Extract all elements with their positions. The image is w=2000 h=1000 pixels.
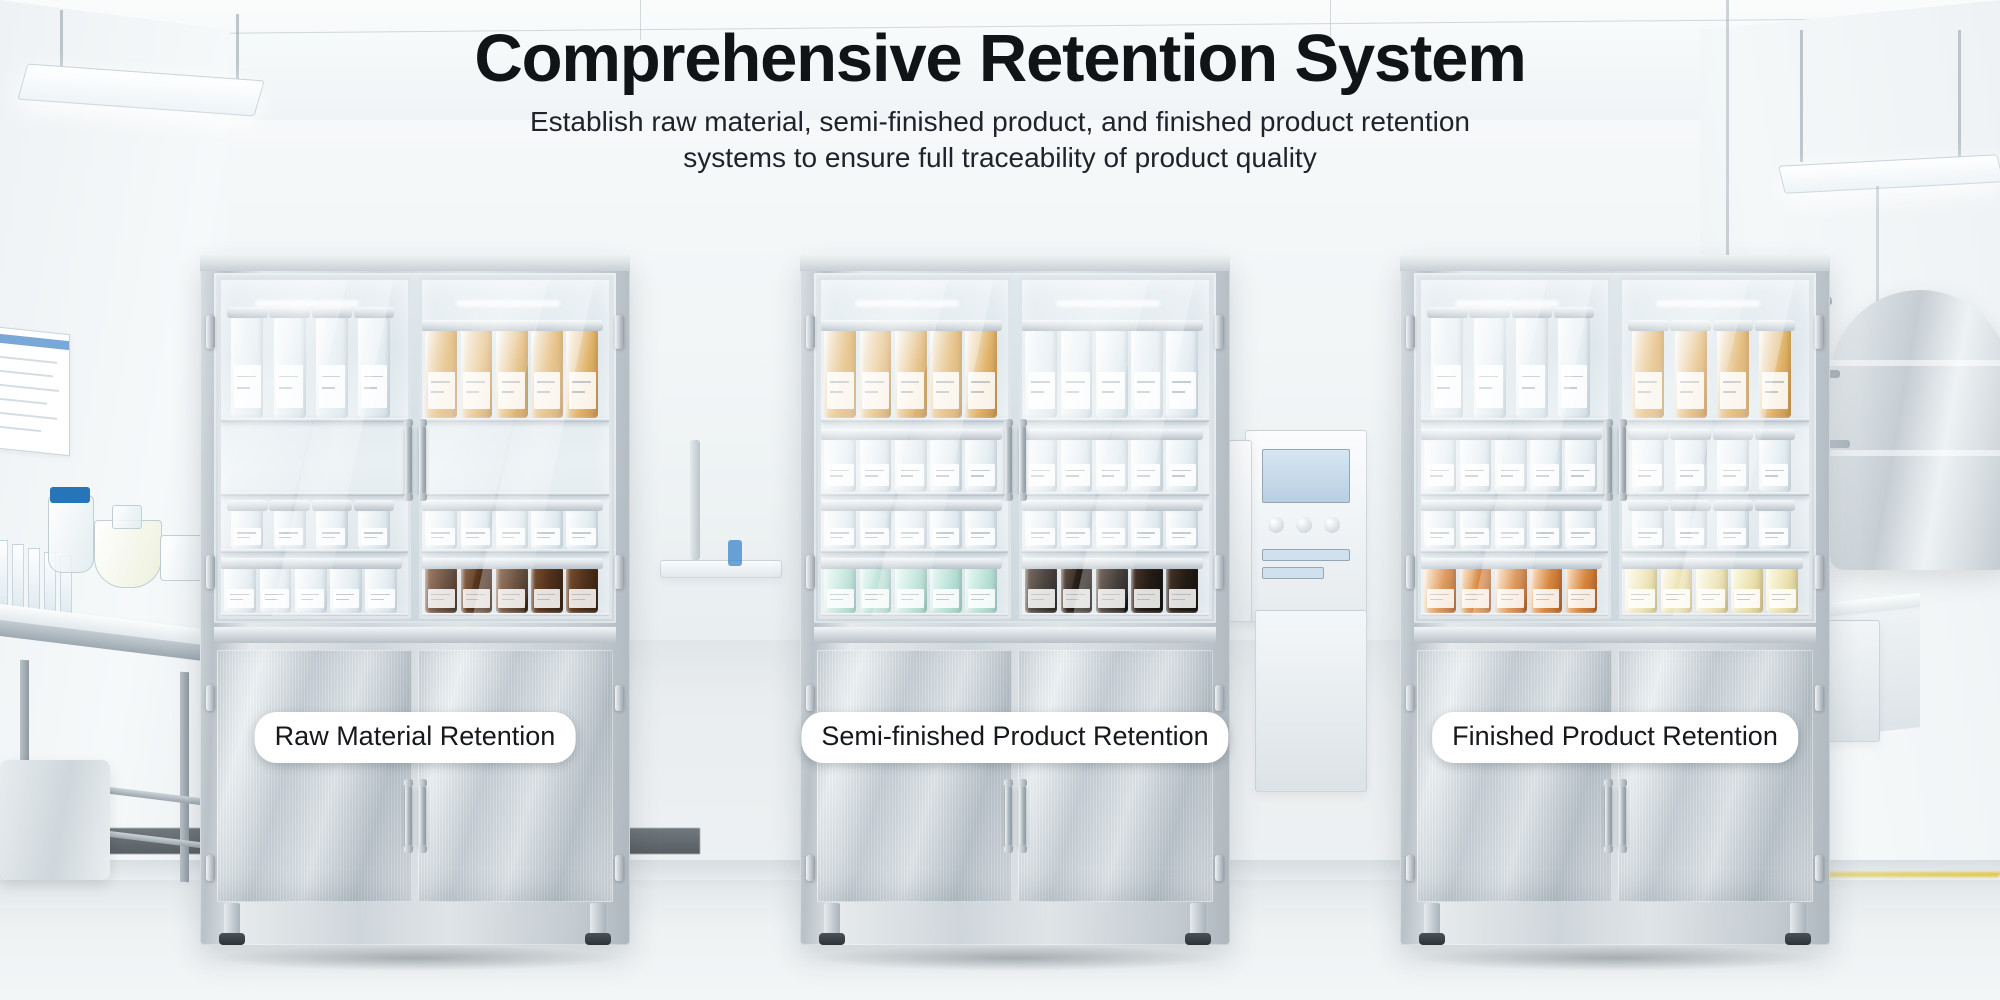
upper-door-handle[interactable] (1605, 425, 1612, 495)
bottle-label (333, 589, 360, 608)
upper-door-handle[interactable] (419, 425, 426, 495)
bottle-cap (1762, 558, 1803, 569)
sample-bottle (1565, 567, 1597, 613)
bottle-cap (1691, 558, 1732, 569)
bottle-label (1098, 589, 1125, 608)
lower-door-right[interactable] (1018, 650, 1213, 902)
door-hinge (206, 555, 215, 589)
light-reflection (456, 300, 561, 307)
shelf (821, 418, 1008, 422)
leveling-foot (1785, 933, 1811, 945)
sample-bottle (1166, 567, 1198, 613)
sample-bottle (1675, 438, 1707, 492)
bottle-label (897, 589, 924, 608)
control-knob[interactable] (1268, 517, 1284, 533)
bottle-cap (562, 558, 603, 569)
bottle-cap (1427, 307, 1468, 318)
brushed-steel-texture (418, 650, 613, 902)
analyzer-unit (1245, 430, 1367, 622)
sample-bottle (1131, 509, 1163, 549)
cabinet-label-raw-material: Raw Material Retention (255, 712, 576, 763)
bottle-cap (1162, 500, 1203, 511)
bottle-cap (1713, 320, 1754, 331)
bottle-label (1533, 589, 1560, 608)
bottle-label (319, 365, 346, 408)
sample-bottle (1131, 329, 1163, 418)
sample-bottle (1474, 316, 1506, 418)
shelf (1622, 613, 1809, 617)
sample-bottle (274, 316, 306, 418)
lower-door-handle[interactable] (1005, 785, 1012, 847)
sample-bottle (496, 567, 528, 613)
sample-bottle (358, 509, 390, 549)
bottle-cap (269, 307, 310, 318)
glass-door-left[interactable] (1418, 277, 1611, 619)
sample-bottle (1096, 329, 1128, 418)
bottle-cap (890, 558, 931, 569)
bottle-label (1169, 589, 1196, 608)
sample-bottle (1166, 438, 1198, 492)
bottle-label (1098, 528, 1125, 545)
bottle-label (1434, 365, 1461, 408)
bottle-label (1677, 528, 1704, 545)
bottle-cap (491, 500, 532, 511)
bottle-label (1533, 528, 1560, 545)
sample-bottle (316, 316, 348, 418)
sample-bottle (1632, 438, 1664, 492)
sample-bottle (824, 329, 856, 418)
cabinet-top-cap (1400, 255, 1830, 271)
sample-bottle (1495, 567, 1527, 613)
bottle-label (862, 589, 889, 608)
sample-bottle (224, 567, 256, 613)
cabinet-interior (221, 280, 408, 616)
bottle-cap (562, 500, 603, 511)
sample-bottle (930, 567, 962, 613)
bottle-cap (491, 558, 532, 569)
sample-bottle (965, 567, 997, 613)
bottle-label (897, 372, 924, 409)
door-hinge (1215, 685, 1224, 711)
bottle-label (534, 528, 561, 545)
sample-bottle (1096, 438, 1128, 492)
bottle-cap (354, 307, 395, 318)
bottle-label (1497, 589, 1524, 608)
bottle-cap (1755, 500, 1796, 511)
bottle-label (1098, 372, 1125, 409)
door-hinge (615, 315, 624, 349)
bottle-label (968, 372, 995, 409)
sample-bottle (930, 329, 962, 418)
sample-bottle (1632, 329, 1664, 418)
bottle-label (319, 528, 346, 545)
leveling-foot (819, 933, 845, 945)
bottle-label (897, 464, 924, 487)
sample-bottle (461, 329, 493, 418)
sample-bottle (1530, 567, 1562, 613)
bottle-cap (50, 487, 90, 503)
lower-door-left[interactable] (1417, 650, 1612, 902)
retention-cabinet-raw-material[interactable] (200, 255, 630, 945)
bottle-label (1427, 464, 1454, 487)
leveling-foot (1185, 933, 1211, 945)
sample-bottle (860, 567, 892, 613)
shelf (1421, 418, 1608, 422)
lower-door-handle[interactable] (405, 785, 412, 847)
control-knob[interactable] (1296, 517, 1312, 533)
door-hinge (1406, 315, 1415, 349)
bottle-cap (269, 500, 310, 511)
door-hinge (615, 685, 624, 711)
bottle-label (361, 365, 388, 408)
shelf (821, 549, 1008, 553)
bottle-cap (961, 500, 1002, 511)
sample-bottle (1424, 509, 1456, 549)
cabinet-legs (1424, 903, 1806, 947)
bottle-label (1568, 464, 1595, 487)
bottle-label (1568, 528, 1595, 545)
sample-bottle (1516, 316, 1548, 418)
bottle-label (1028, 528, 1055, 545)
sample-bottle (1025, 567, 1057, 613)
bottle-label (933, 528, 960, 545)
lower-storage-section (814, 647, 1216, 905)
bottle-label (1063, 372, 1090, 409)
bottle-label (1734, 589, 1761, 608)
poster-canvas: Comprehensive Retention System Establish… (0, 0, 2000, 1000)
glass-door-left[interactable] (818, 277, 1011, 619)
bottle-cap (1561, 500, 1602, 511)
sample-bottle (1166, 509, 1198, 549)
bottle-cap (1162, 320, 1203, 331)
cabinet-unit (1255, 610, 1367, 792)
bottle-cap (491, 320, 532, 331)
instrument-side-panel (1228, 440, 1252, 622)
sample-bottle (860, 329, 892, 418)
shelf (1622, 418, 1809, 422)
door-hinge (1406, 555, 1415, 589)
control-knob[interactable] (1324, 517, 1340, 533)
door-hinge (806, 855, 815, 881)
shelf (1022, 549, 1209, 553)
sample-bottle (1460, 509, 1492, 549)
bottle-cap (562, 320, 603, 331)
bottle-label (1561, 365, 1588, 408)
door-hinge (806, 685, 815, 711)
bottle-label (498, 372, 525, 409)
bench-leg (180, 672, 189, 882)
bottle-label (1762, 464, 1789, 487)
upper-door-handle[interactable] (1005, 425, 1012, 495)
lower-door-handle[interactable] (419, 785, 426, 847)
wall-poster (0, 326, 70, 456)
lower-door-handle[interactable] (1619, 785, 1626, 847)
bottle-label (827, 464, 854, 487)
sample-bottle (1061, 509, 1093, 549)
bottle-cap (1490, 500, 1531, 511)
bottle-label (276, 528, 303, 545)
sample-bottle (1558, 316, 1590, 418)
glass-display-section (814, 273, 1216, 623)
glass-door-right[interactable] (1019, 277, 1212, 619)
bottle-label (1427, 589, 1454, 608)
bottle-cap (1628, 500, 1669, 511)
leveling-foot (1419, 933, 1445, 945)
bottle-label (1169, 464, 1196, 487)
cabinet-legs (224, 903, 606, 947)
bottle-cap (1670, 500, 1711, 511)
bottle-label (1028, 372, 1055, 409)
door-hinge (1406, 685, 1415, 711)
door-hinge (1815, 685, 1824, 711)
sample-bottle (231, 316, 263, 418)
door-hinge (806, 315, 815, 349)
sample-bottle (1131, 567, 1163, 613)
sample-bottle (824, 567, 856, 613)
sample-bottle (496, 329, 528, 418)
sample-bottle (895, 567, 927, 613)
sample-bottle (1675, 509, 1707, 549)
lower-door-left[interactable] (817, 650, 1012, 902)
bottle-label (463, 372, 490, 409)
glass-door-left[interactable] (218, 277, 411, 619)
bottle-label (1169, 372, 1196, 409)
bottle-label (297, 589, 324, 608)
sample-bottle (1759, 329, 1791, 418)
cabinet-mid-rail (814, 627, 1216, 643)
bottle-cap (227, 307, 268, 318)
bottle-label (968, 464, 995, 487)
sample-bottle (965, 438, 997, 492)
sample-bottle (316, 509, 348, 549)
bottle-cap (1755, 320, 1796, 331)
sample-bottle (1424, 438, 1456, 492)
cabinet-interior (422, 280, 609, 616)
cabinet-leg (1190, 903, 1206, 937)
shelf (221, 418, 408, 422)
door-hinge (206, 855, 215, 881)
bottle-label (1769, 589, 1796, 608)
sample-bottle (1625, 567, 1657, 613)
bottle-label (1028, 464, 1055, 487)
bottle-label (1677, 464, 1704, 487)
bottle-label (933, 589, 960, 608)
leveling-foot (585, 933, 611, 945)
sample-bottle (1025, 438, 1057, 492)
cabinet-interior (1622, 280, 1809, 616)
bottle-label (1698, 589, 1725, 608)
bottle-label (1519, 365, 1546, 408)
bottle-cap (1713, 500, 1754, 511)
sample-bottle (260, 567, 292, 613)
shelf (221, 549, 408, 553)
bottle-label (897, 528, 924, 545)
bottle-cap (1628, 320, 1669, 331)
bottle-cap (354, 500, 395, 511)
lower-door-handle[interactable] (1019, 785, 1026, 847)
cabinet-top-cap (800, 255, 1230, 271)
sample-bottle (425, 329, 457, 418)
sample-bottle (860, 509, 892, 549)
bottle-cap (961, 429, 1002, 440)
door-hinge (1215, 555, 1224, 589)
sample-bottle (231, 509, 263, 549)
bottle-label (1635, 372, 1662, 409)
sample-bottle (461, 567, 493, 613)
bottle-label (227, 589, 254, 608)
bottle-label (262, 589, 289, 608)
light-reflection (1056, 300, 1161, 307)
page-title: Comprehensive Retention System (0, 24, 2000, 94)
faucet-column (690, 440, 700, 560)
shelf (1421, 613, 1608, 617)
retention-cabinet-semi-finished[interactable] (800, 255, 1230, 945)
bottle-label (498, 528, 525, 545)
bottle-label (569, 528, 596, 545)
upper-door-handle[interactable] (1019, 425, 1026, 495)
bottle-label (1134, 528, 1161, 545)
bottle-label (1063, 528, 1090, 545)
bottle-cap (361, 558, 402, 569)
bottle-cap (1512, 307, 1553, 318)
cabinet-mid-rail (214, 627, 616, 643)
sample-bottle (965, 329, 997, 418)
bottle-cap (1091, 500, 1132, 511)
bottle-label (498, 589, 525, 608)
sample-bottle (1661, 567, 1693, 613)
bottle-label (827, 372, 854, 409)
cabinet-leg (824, 903, 840, 937)
bottle-label (569, 589, 596, 608)
sample-bottle (1495, 509, 1527, 549)
bottle-cap (312, 500, 353, 511)
cabinet-mid-rail (1414, 627, 1816, 643)
sample-bottle (965, 509, 997, 549)
sample-bottle (1632, 509, 1664, 549)
bottle-label (1762, 528, 1789, 545)
cabinet-shadow (210, 945, 620, 971)
bottle-label (862, 464, 889, 487)
sample-bottle (930, 509, 962, 549)
bottle-label (1635, 464, 1662, 487)
sample-bottle (930, 438, 962, 492)
light-reflection (855, 300, 960, 307)
sample-bottle (1717, 438, 1749, 492)
cabinet-label-finished-product: Finished Product Retention (1432, 712, 1798, 763)
bottle-label (862, 528, 889, 545)
sample-bottle (1495, 438, 1527, 492)
lower-door-handle[interactable] (1605, 785, 1612, 847)
sample-bottle (895, 438, 927, 492)
shelf (1022, 418, 1209, 422)
lower-door-right[interactable] (1618, 650, 1813, 902)
subtitle-line-1: Establish raw material, semi-finished pr… (335, 104, 1665, 139)
bottle-label (1462, 528, 1489, 545)
bottle-label (1628, 589, 1655, 608)
sample-bottle (1166, 329, 1198, 418)
erlenmeyer-flask (94, 520, 162, 588)
brushed-steel-texture (217, 650, 412, 902)
sample-bottle (895, 329, 927, 418)
bottle-label (1533, 464, 1560, 487)
sample-bottle (1759, 438, 1791, 492)
storage-drum (0, 760, 110, 880)
cabinet-shadow (1410, 945, 1820, 971)
lower-door-left[interactable] (217, 650, 412, 902)
bottle-label (1427, 528, 1454, 545)
door-hinge (1215, 315, 1224, 349)
bottle-label (368, 589, 395, 608)
glass-display-section (1414, 273, 1816, 623)
lower-storage-section (214, 647, 616, 905)
sample-bottle (1530, 438, 1562, 492)
bottle-label (569, 372, 596, 409)
door-hinge (1815, 555, 1824, 589)
bottle-label (862, 372, 889, 409)
sample-bottle (1025, 509, 1057, 549)
bottle-label (1720, 528, 1747, 545)
bottle-label (234, 528, 261, 545)
reagent-bottle (48, 495, 94, 573)
shelf (221, 492, 408, 496)
sample-bottle (1431, 316, 1463, 418)
sample-bottle (1675, 329, 1707, 418)
bottle-label (968, 589, 995, 608)
sample-bottle (358, 316, 390, 418)
glass-door-right[interactable] (1619, 277, 1812, 619)
sample-bottle (1096, 509, 1128, 549)
cabinet-leg (1790, 903, 1806, 937)
bottle-cap (1490, 558, 1531, 569)
sample-bottle (860, 438, 892, 492)
retention-cabinet-finished-product[interactable] (1400, 255, 1830, 945)
sample-bottle (295, 567, 327, 613)
bottle-label (1663, 589, 1690, 608)
bottle-label (428, 528, 455, 545)
bottle-cap (1561, 558, 1602, 569)
shelf (1622, 492, 1809, 496)
bottle-cap (1162, 429, 1203, 440)
bottle-label (428, 589, 455, 608)
flask-neck (112, 505, 142, 529)
upper-door-handle[interactable] (405, 425, 412, 495)
bottle-label (968, 528, 995, 545)
sample-bottle (531, 509, 563, 549)
sample-bottle (1759, 509, 1791, 549)
door-hinge (615, 855, 624, 881)
shelf (422, 418, 609, 422)
door-hinge (1406, 855, 1415, 881)
shelf (821, 613, 1008, 617)
cabinet-shadow (810, 945, 1220, 971)
stainless-tank (1830, 290, 2000, 570)
bottle-label (827, 528, 854, 545)
glass-door-right[interactable] (419, 277, 612, 619)
bottle-label (234, 365, 261, 408)
sample-bottle (566, 509, 598, 549)
bottle-cap (1091, 320, 1132, 331)
brushed-steel-texture (1417, 650, 1612, 902)
bottle-label (463, 589, 490, 608)
door-hinge (1815, 315, 1824, 349)
door-hinge (1815, 855, 1824, 881)
lower-door-right[interactable] (418, 650, 613, 902)
sample-bottle (1131, 438, 1163, 492)
bottle-cap (1162, 558, 1203, 569)
upper-door-handle[interactable] (1619, 425, 1626, 495)
cabinet-legs (824, 903, 1206, 947)
bottle-cap (1091, 558, 1132, 569)
